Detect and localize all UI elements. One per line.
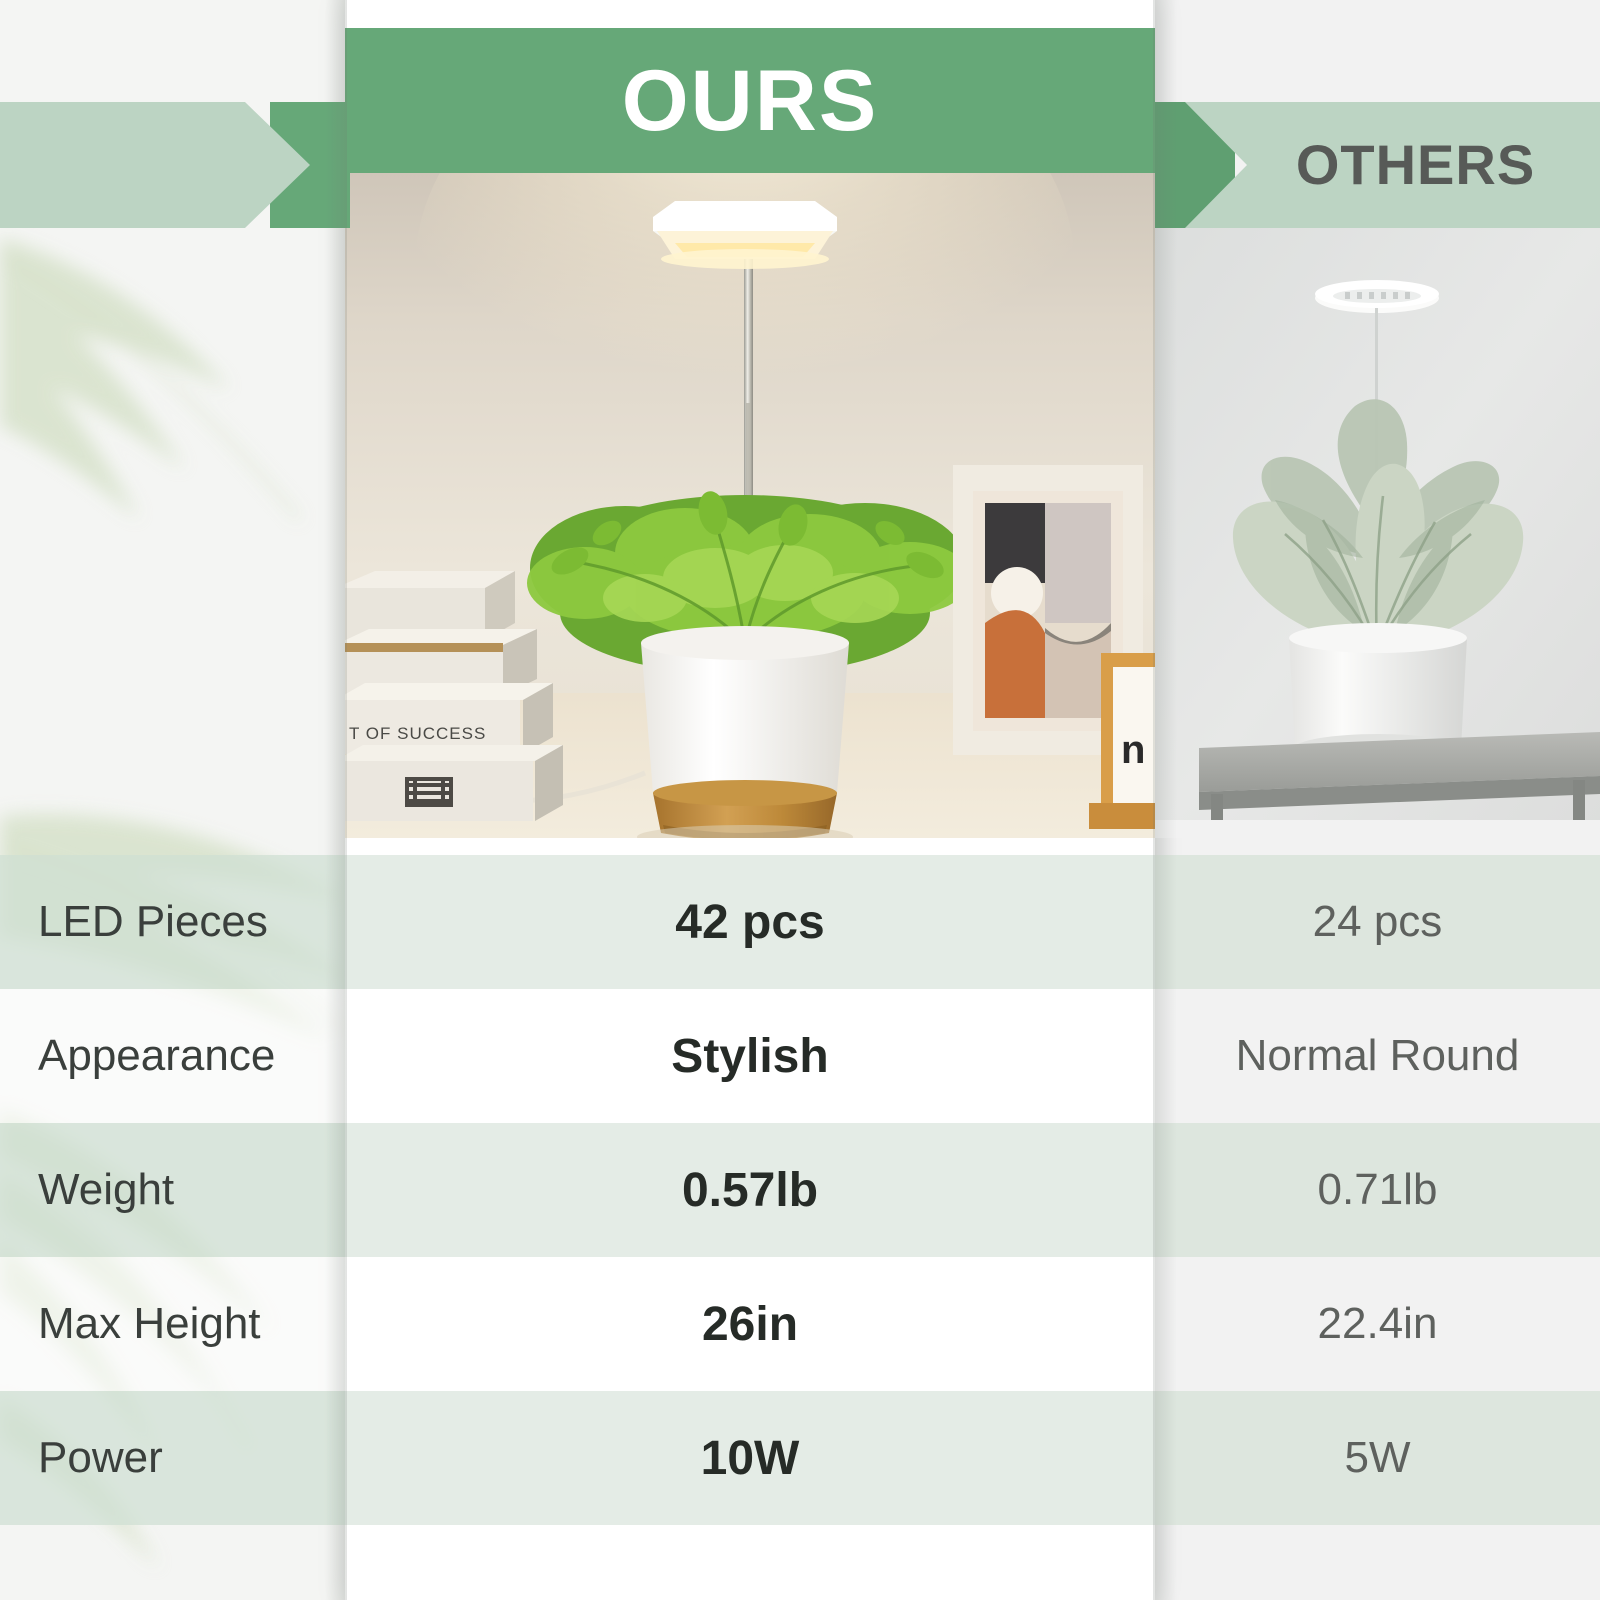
row-ours-value: 26in [345,1257,1155,1391]
row-label: LED Pieces [0,855,345,989]
row-label: Appearance [0,989,345,1123]
others-header: OTHERS [1185,102,1600,228]
row-others-value: 22.4in [1155,1257,1600,1391]
ours-product-photo: T OF SUCCESS [345,173,1155,838]
comparison-table: LED Pieces42 pcs24 pcsAppearanceStylishN… [0,855,1600,1525]
row-ours-value: 0.57lb [345,1123,1155,1257]
row-ours-value: 42 pcs [345,855,1155,989]
ours-header: OURS [345,28,1155,173]
row-others-value: 0.71lb [1155,1123,1600,1257]
others-header-label: OTHERS [1296,137,1535,193]
row-others-value: 24 pcs [1155,855,1600,989]
row-label: Weight [0,1123,345,1257]
others-product-photo [1155,228,1600,838]
comparison-infographic: T OF SUCCESS [0,0,1600,1600]
row-label: Power [0,1391,345,1525]
svg-text:n: n [1121,728,1145,772]
table-row: Power10W5W [0,1391,1600,1525]
svg-text:T OF SUCCESS: T OF SUCCESS [349,724,486,743]
table-row: Max Height26in22.4in [0,1257,1600,1391]
row-others-value: Normal Round [1155,989,1600,1123]
table-row: Weight0.57lb0.71lb [0,1123,1600,1257]
ours-header-label: OURS [622,58,878,144]
row-label: Max Height [0,1257,345,1391]
row-ours-value: Stylish [345,989,1155,1123]
left-ribbon-band [0,102,310,228]
table-row: AppearanceStylishNormal Round [0,989,1600,1123]
row-ours-value: 10W [345,1391,1155,1525]
table-row: LED Pieces42 pcs24 pcs [0,855,1600,989]
row-others-value: 5W [1155,1391,1600,1525]
